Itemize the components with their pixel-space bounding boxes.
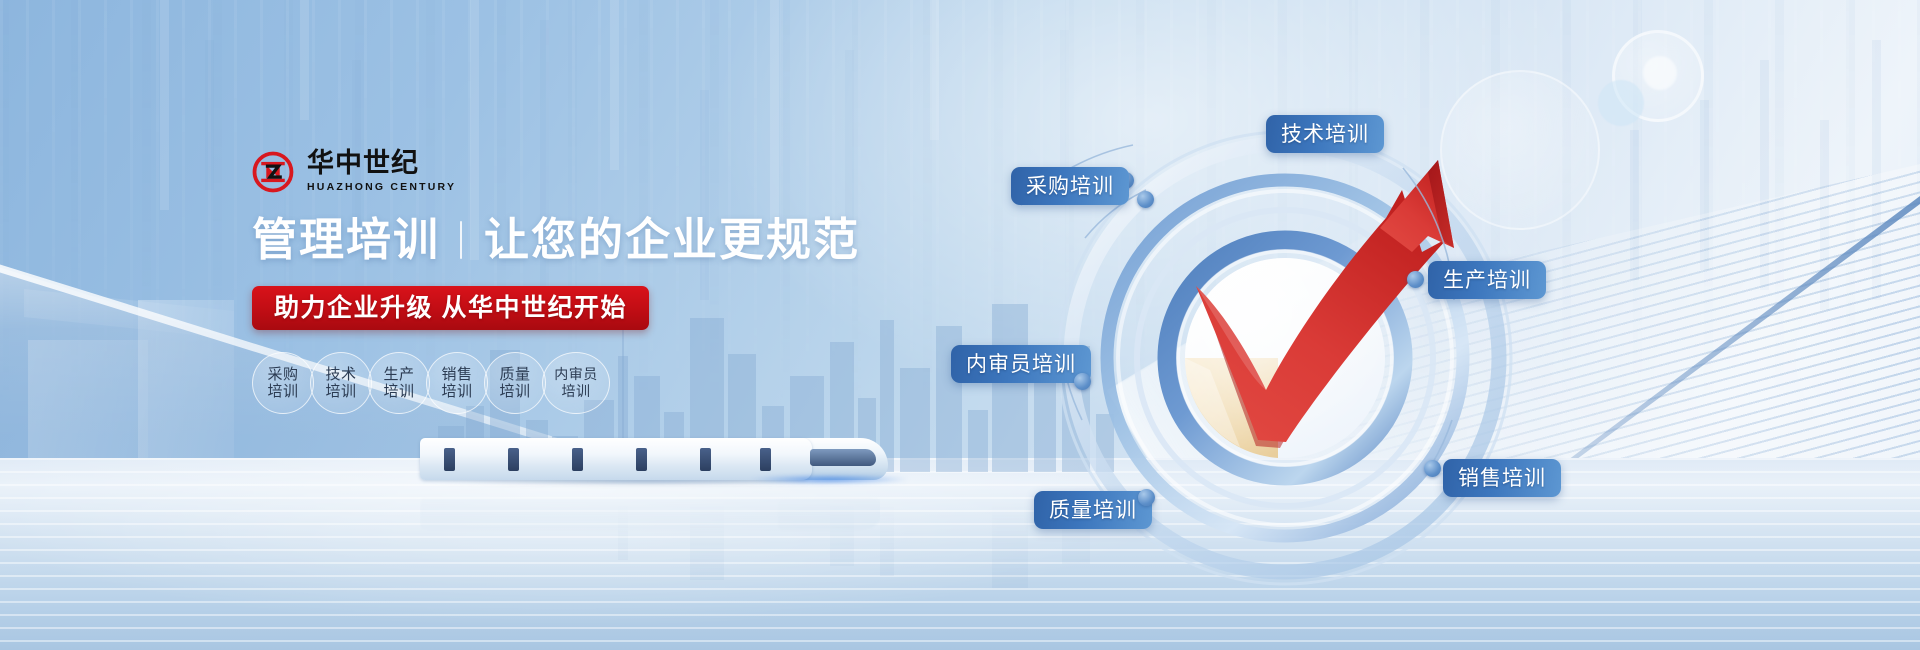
banner-content: 华中世纪 HUAZHONG CENTURY 管理培训 让您的企业更规范 助力企业… — [252, 150, 952, 414]
page-title: 管理培训 让您的企业更规范 — [252, 212, 952, 268]
callout-dot — [1074, 373, 1091, 390]
callout-dot — [1424, 460, 1441, 477]
callout-technical-training[interactable]: 技术培训 — [1266, 115, 1384, 153]
train-body — [420, 438, 812, 480]
training-banner: 技术培训 采购培训 生产培训 内审员培训 销售培训 质量培训 — [0, 0, 1920, 650]
callout-quality-training[interactable]: 质量培训 — [1034, 491, 1152, 529]
callout-label: 采购培训 — [1026, 176, 1114, 197]
training-category-chips: 采购 培训 技术 培训 生产 培训 销售 培训 质量 培训 内审员 培训 — [252, 352, 952, 414]
callout-dot — [1407, 271, 1424, 288]
tagline-text: 助力企业升级 从华中世纪开始 — [274, 296, 627, 321]
chip-procurement-training[interactable]: 采购 培训 — [252, 352, 314, 414]
headline-left: 管理培训 — [252, 212, 440, 268]
chip-line-1: 生产 — [383, 366, 414, 383]
chip-line-1: 内审员 — [554, 366, 598, 383]
brand-name-en: HUAZHONG CENTURY — [307, 180, 456, 194]
train-reflection — [420, 482, 880, 540]
chip-quality-training[interactable]: 质量 培训 — [484, 352, 546, 414]
bokeh-circle-icon — [1643, 56, 1677, 90]
callout-label: 质量培训 — [1049, 500, 1137, 521]
train-windshield — [810, 449, 876, 466]
chip-line-2: 培训 — [383, 383, 414, 400]
callout-label: 销售培训 — [1458, 468, 1546, 489]
chip-line-1: 采购 — [267, 366, 298, 383]
chip-production-training[interactable]: 生产 培训 — [368, 352, 430, 414]
chip-sales-training[interactable]: 销售 培训 — [426, 352, 488, 414]
callout-procurement-training[interactable]: 采购培训 — [1011, 167, 1129, 205]
chip-line-2: 培训 — [325, 383, 356, 400]
callout-dot — [1137, 191, 1154, 208]
headline-right: 让您的企业更规范 — [484, 212, 860, 268]
brand-name-cn: 华中世纪 — [307, 150, 456, 177]
chip-line-2: 培训 — [499, 383, 530, 400]
chip-line-2: 培训 — [441, 383, 472, 400]
callout-label: 生产培训 — [1443, 270, 1531, 291]
callout-label: 技术培训 — [1281, 124, 1369, 145]
chip-line-1: 销售 — [441, 366, 472, 383]
callout-production-training[interactable]: 生产培训 — [1428, 261, 1546, 299]
chip-line-1: 技术 — [325, 366, 356, 383]
train-motion-glow — [750, 475, 910, 484]
headline-divider — [460, 221, 462, 259]
brand-text: 华中世纪 HUAZHONG CENTURY — [307, 150, 456, 194]
bokeh-circle-icon — [1598, 80, 1644, 126]
tagline-ribbon: 助力企业升级 从华中世纪开始 — [252, 286, 649, 330]
chip-internal-auditor-training[interactable]: 内审员 培训 — [542, 352, 610, 414]
chip-line-1: 质量 — [499, 366, 530, 383]
chip-technical-training[interactable]: 技术 培训 — [310, 352, 372, 414]
chip-line-2: 培训 — [562, 383, 591, 400]
callout-dot — [1138, 489, 1155, 506]
callout-sales-training[interactable]: 销售培训 — [1443, 459, 1561, 497]
callout-internal-auditor-training[interactable]: 内审员培训 — [951, 345, 1091, 383]
brand-logo[interactable]: 华中世纪 HUAZHONG CENTURY — [252, 150, 952, 194]
callout-label: 内审员培训 — [966, 354, 1076, 375]
huazhong-circular-emblem-icon — [252, 151, 294, 193]
high-speed-train — [420, 436, 880, 480]
chip-line-2: 培训 — [267, 383, 298, 400]
